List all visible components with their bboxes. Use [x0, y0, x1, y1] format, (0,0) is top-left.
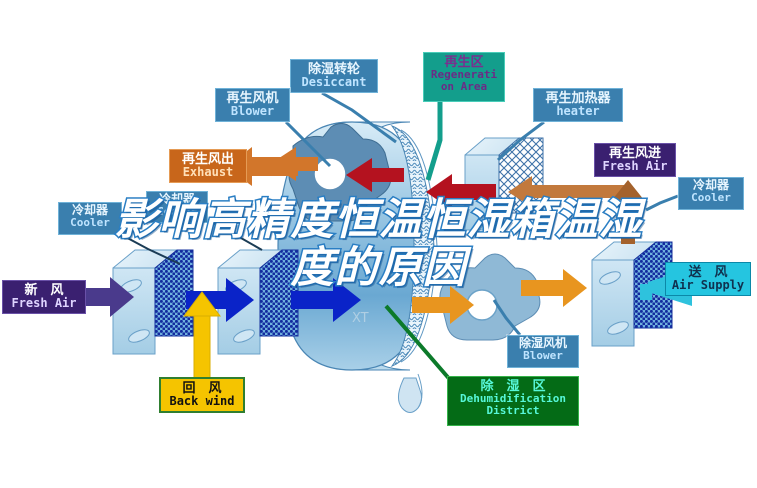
label-fresh-air-in-cn: 新 风: [3, 283, 85, 297]
label-desiccant-wheel-en: Desiccant: [291, 76, 377, 89]
label-regeneration-fresh-air-in-en: Fresh Air: [595, 160, 675, 173]
label-regeneration-exhaust-en: Exhaust: [170, 166, 246, 179]
label-dehumidification-district: 除 湿 区 Dehumidification District: [447, 376, 579, 426]
label-cooler-left-outer-en: Cooler: [59, 217, 121, 229]
label-regeneration-blower-cn: 再生风机: [216, 91, 289, 105]
label-dehumidification-blower: 除湿风机 Blower: [507, 335, 579, 368]
label-cooler-right-en: Cooler: [679, 192, 743, 204]
label-dehumidification-blower-cn: 除湿风机: [508, 337, 578, 350]
label-cooler-left-outer: 冷却器 Cooler: [58, 202, 122, 235]
label-regeneration-heater: 再生加热器 heater: [533, 88, 623, 122]
label-air-supply-cn: 送 风: [666, 265, 750, 279]
label-air-supply: 送 风 Air Supply: [665, 262, 751, 296]
label-leader-lines: [0, 0, 757, 488]
label-back-wind-cn: 回 风: [161, 381, 243, 395]
label-regeneration-heater-en: heater: [534, 105, 622, 118]
label-cooler-left-inner: 冷却器 Cooler: [146, 191, 208, 223]
label-back-wind: 回 风 Back wind: [159, 377, 245, 413]
label-regeneration-area-en-2: on Area: [424, 81, 504, 93]
label-cooler-right: 冷却器 Cooler: [678, 177, 744, 210]
label-regeneration-fresh-air-in: 再生风进 Fresh Air: [594, 143, 676, 177]
label-regeneration-blower-en: Blower: [216, 105, 289, 118]
label-cooler-right-cn: 冷却器: [679, 179, 743, 192]
label-regeneration-blower: 再生风机 Blower: [215, 88, 290, 122]
label-regeneration-heater-cn: 再生加热器: [534, 91, 622, 105]
label-fresh-air-in: 新 风 Fresh Air: [2, 280, 86, 314]
label-regeneration-exhaust: 再生风出 Exhaust: [169, 149, 247, 183]
label-dehumidification-district-en-2: District: [448, 405, 578, 417]
label-back-wind-en: Back wind: [161, 395, 243, 408]
label-desiccant-wheel: 除湿转轮 Desiccant: [290, 59, 378, 93]
label-fresh-air-in-en: Fresh Air: [3, 297, 85, 310]
diagram-canvas: XT: [0, 0, 757, 488]
label-cooler-left-inner-en: Cooler: [147, 206, 207, 218]
label-regeneration-exhaust-cn: 再生风出: [170, 152, 246, 166]
label-desiccant-wheel-cn: 除湿转轮: [291, 62, 377, 76]
label-air-supply-en: Air Supply: [666, 279, 750, 292]
label-regeneration-area-cn: 再生区: [424, 55, 504, 69]
label-cooler-left-inner-cn: 冷却器: [147, 193, 207, 206]
label-regeneration-fresh-air-in-cn: 再生风进: [595, 146, 675, 160]
label-dehumidification-district-cn: 除 湿 区: [448, 379, 578, 393]
label-cooler-left-outer-cn: 冷却器: [59, 204, 121, 217]
label-dehumidification-blower-en: Blower: [508, 350, 578, 362]
label-regeneration-area: 再生区 Regenerati on Area: [423, 52, 505, 102]
